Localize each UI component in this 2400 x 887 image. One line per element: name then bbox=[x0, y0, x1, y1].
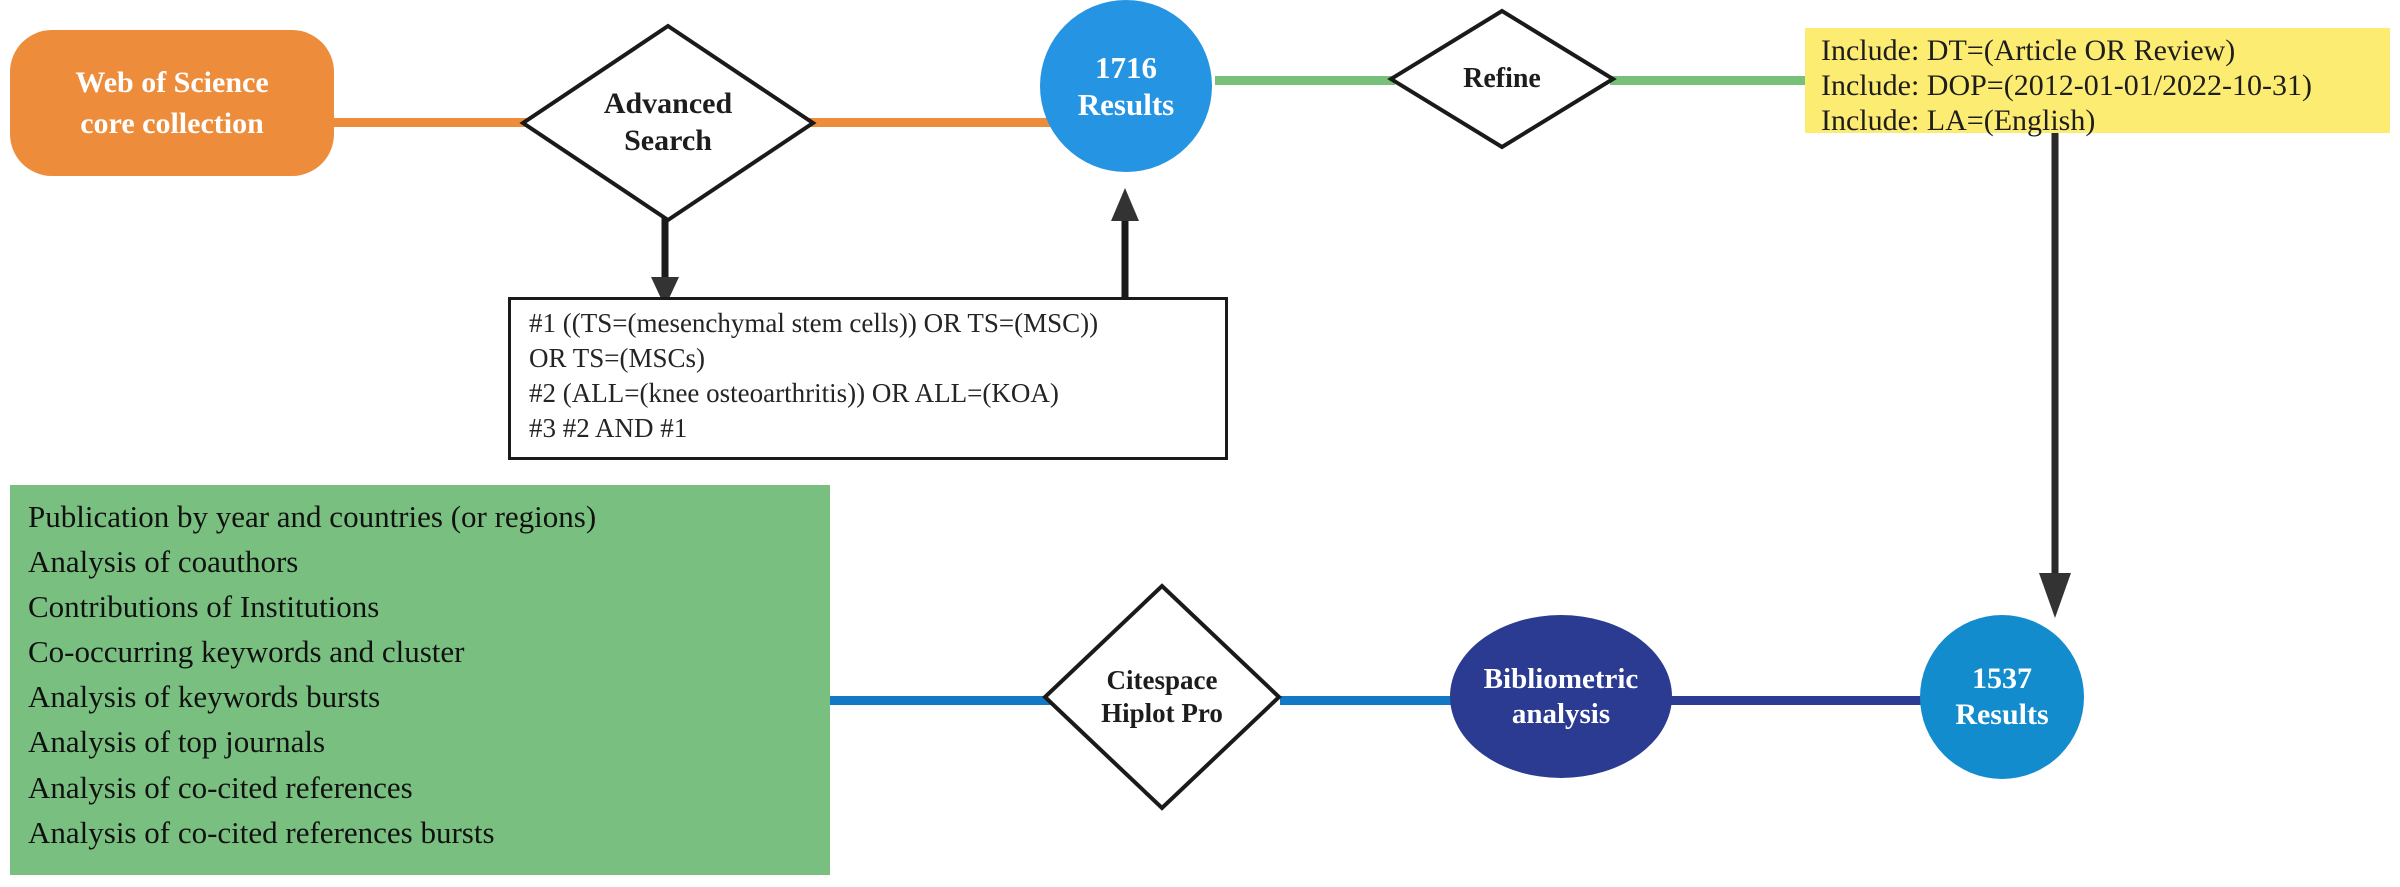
results-1716-count: 1716 bbox=[1095, 49, 1157, 86]
analysis-outputs-list: Publication by year and countries (or re… bbox=[10, 485, 830, 875]
connector-results-1716-to-refine bbox=[1215, 76, 1395, 85]
source-line-2: core collection bbox=[80, 103, 264, 144]
filter-line: Include: DT=(Article OR Review) bbox=[1821, 34, 2376, 69]
filter-line: Include: DOP=(2012-01-01/2022-10-31) bbox=[1821, 69, 2376, 104]
advanced-search-decision-diamond[interactable]: Advanced Search bbox=[520, 23, 816, 223]
list-item: Analysis of co-cited references bursts bbox=[28, 810, 830, 855]
arrow-advanced-search-to-query bbox=[645, 215, 685, 310]
list-item: Analysis of coauthors bbox=[28, 539, 830, 584]
query-line: #1 ((TS=(mesenchymal stem cells)) OR TS=… bbox=[529, 306, 1225, 341]
bibliometric-label-2: analysis bbox=[1512, 697, 1610, 732]
filter-line: Include: LA=(English) bbox=[1821, 104, 2376, 139]
list-item: Contributions of Institutions bbox=[28, 584, 830, 629]
software-tools-decision-diamond[interactable]: Citespace Hiplot Pro bbox=[1042, 583, 1282, 811]
results-1716-label: Results bbox=[1078, 86, 1174, 123]
bibliometric-label-1: Bibliometric bbox=[1484, 662, 1639, 697]
query-line: #3 #2 AND #1 bbox=[529, 411, 1225, 446]
results-1537-circle[interactable]: 1537 Results bbox=[1920, 615, 2084, 779]
query-line: OR TS=(MSCs) bbox=[529, 341, 1225, 376]
results-1537-count: 1537 bbox=[1972, 661, 2032, 697]
list-item: Co-occurring keywords and cluster bbox=[28, 629, 830, 674]
bibliometric-analysis-circle[interactable]: Bibliometric analysis bbox=[1450, 615, 1672, 778]
flowchart-canvas: Web of Science core collection Advanced … bbox=[0, 0, 2400, 887]
results-1716-circle[interactable]: 1716 Results bbox=[1040, 0, 1212, 172]
connector-advanced-search-to-results-1716 bbox=[805, 118, 1055, 127]
list-item: Analysis of keywords bursts bbox=[28, 674, 830, 719]
list-item: Analysis of top journals bbox=[28, 719, 830, 764]
inclusion-filters-note: Include: DT=(Article OR Review) Include:… bbox=[1805, 28, 2390, 133]
refine-decision-diamond[interactable]: Refine bbox=[1388, 8, 1616, 150]
connector-refine-to-filters bbox=[1610, 76, 1815, 85]
results-1537-label: Results bbox=[1955, 697, 2048, 733]
source-line-1: Web of Science bbox=[75, 62, 268, 103]
connector-source-to-advanced-search bbox=[300, 118, 530, 127]
list-item: Publication by year and countries (or re… bbox=[28, 494, 830, 539]
query-line: #2 (ALL=(knee osteoarthritis)) OR ALL=(K… bbox=[529, 376, 1225, 411]
web-of-science-source-box[interactable]: Web of Science core collection bbox=[10, 30, 334, 176]
search-query-box: #1 ((TS=(mesenchymal stem cells)) OR TS=… bbox=[508, 297, 1228, 460]
arrow-filters-to-results-1537 bbox=[2035, 130, 2075, 620]
list-item: Analysis of co-cited references bbox=[28, 765, 830, 810]
arrow-query-to-results-1716 bbox=[1105, 185, 1145, 305]
connector-bibliometric-to-software bbox=[1280, 696, 1475, 705]
connector-results-1537-to-bibliometric bbox=[1640, 696, 1930, 705]
